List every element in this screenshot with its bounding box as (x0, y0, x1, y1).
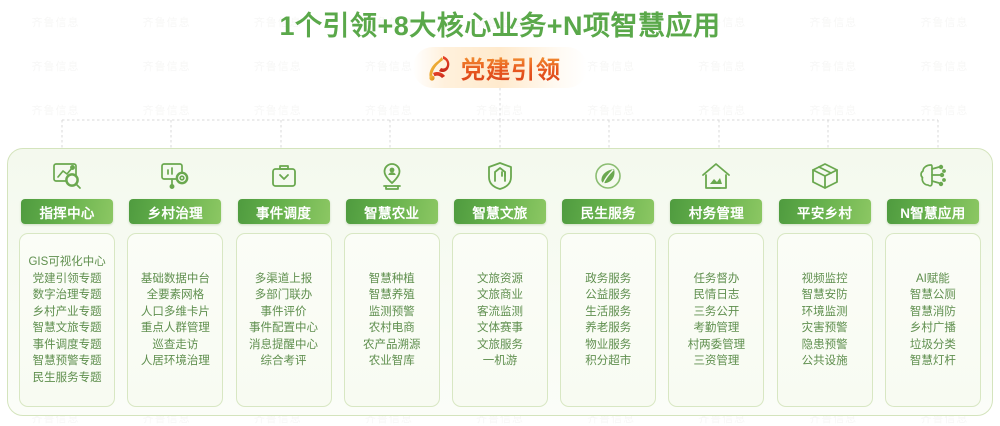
watermark-text: 齐鲁信息 (143, 102, 191, 118)
feature-list: AI赋能智慧公厕智慧消防乡村广播垃圾分类智慧灯杆 (910, 271, 956, 370)
category-column: 村务管理任务督办民情日志三务公开考勤管理村两委管理三资管理 (662, 155, 770, 407)
location-person-icon (376, 157, 408, 195)
category-column: 智慧农业智慧种植智慧养殖监测预警农村电商农产品溯源农业智库 (338, 155, 446, 407)
category-header-2[interactable]: 乡村治理 (129, 199, 221, 224)
feature-item[interactable]: 巡查走访 (141, 337, 210, 354)
ai-brain-icon (917, 157, 949, 195)
feature-item[interactable]: 任务督办 (688, 271, 746, 288)
briefcase-dispatch-icon (269, 157, 299, 195)
party-leadership-badge: 党建引领 (413, 47, 587, 88)
feature-item[interactable]: AI赋能 (910, 271, 956, 288)
feature-item[interactable]: 事件调度专题 (28, 337, 105, 354)
feature-item[interactable]: 智慧预警专题 (28, 353, 105, 370)
feature-item[interactable]: 三务公开 (688, 304, 746, 321)
feature-item[interactable]: 村两委管理 (688, 337, 746, 354)
category-header-5[interactable]: 智慧文旅 (454, 199, 546, 224)
feature-list: 政务服务公益服务生活服务养老服务物业服务积分超市 (585, 271, 631, 370)
category-title: 事件调度 (256, 202, 311, 222)
watermark-text: 齐鲁信息 (698, 58, 746, 74)
category-header-9[interactable]: N智慧应用 (887, 199, 979, 224)
feature-item[interactable]: 环境监测 (802, 304, 848, 321)
category-column: 乡村治理基础数据中台全要素网格人口多维卡片重点人群管理巡查走访人居环境治理 (121, 155, 229, 407)
category-column: 民生服务政务服务公益服务生活服务养老服务物业服务积分超市 (554, 155, 662, 407)
shield-building-icon (485, 157, 515, 195)
watermark-text: 齐鲁信息 (587, 102, 635, 118)
watermark-text: 齐鲁信息 (254, 58, 302, 74)
watermark-text: 齐鲁信息 (920, 58, 968, 74)
feature-list: 智慧种植智慧养殖监测预警农村电商农产品溯源农业智库 (363, 271, 421, 370)
category-column: 事件调度多渠道上报多部门联办事件评价事件配置中心消息提醒中心综合考评 (229, 155, 337, 407)
watermark-text: 齐鲁信息 (587, 58, 635, 74)
watermark-text: 齐鲁信息 (920, 102, 968, 118)
watermark-text: 齐鲁信息 (698, 102, 746, 118)
feature-item[interactable]: 养老服务 (585, 320, 631, 337)
category-title: 民生服务 (581, 202, 636, 222)
chart-analytics-icon (51, 157, 83, 195)
feature-item[interactable]: 事件配置中心 (249, 320, 318, 337)
category-card: GIS可视化中心党建引领专题数字治理专题乡村产业专题智慧文旅专题事件调度专题智慧… (19, 233, 115, 407)
party-emblem-icon (423, 51, 457, 85)
category-title: 指挥中心 (40, 202, 95, 222)
feature-item[interactable]: 生活服务 (585, 304, 631, 321)
feature-item[interactable]: 垃圾分类 (910, 337, 956, 354)
feature-item[interactable]: 农业智库 (363, 353, 421, 370)
leaf-circle-icon (593, 157, 623, 195)
feature-item[interactable]: 一机游 (477, 353, 523, 370)
feature-item[interactable]: 物业服务 (585, 337, 631, 354)
feature-item[interactable]: 人口多维卡片 (141, 304, 210, 321)
category-title: 智慧文旅 (472, 202, 527, 222)
category-card: AI赋能智慧公厕智慧消防乡村广播垃圾分类智慧灯杆 (885, 233, 981, 407)
feature-item[interactable]: 智慧安防 (802, 287, 848, 304)
category-header-1[interactable]: 指挥中心 (21, 199, 113, 224)
feature-item[interactable]: 综合考评 (249, 353, 318, 370)
feature-item[interactable]: 智慧文旅专题 (28, 320, 105, 337)
feature-item[interactable]: 多部门联办 (249, 287, 318, 304)
feature-item[interactable]: 智慧消防 (910, 304, 956, 321)
feature-list: 文旅资源文旅商业客流监测文体赛事文旅服务一机游 (477, 271, 523, 370)
category-card: 政务服务公益服务生活服务养老服务物业服务积分超市 (560, 233, 656, 407)
feature-item[interactable]: 灾害预警 (802, 320, 848, 337)
feature-item[interactable]: 智慧养殖 (363, 287, 421, 304)
watermark-text: 齐鲁信息 (809, 102, 857, 118)
feature-item[interactable]: 民生服务专题 (28, 370, 105, 387)
category-title: 平安乡村 (797, 202, 852, 222)
watermark-text: 齐鲁信息 (365, 58, 413, 74)
monitor-settings-icon (159, 157, 191, 195)
category-header-7[interactable]: 村务管理 (670, 199, 762, 224)
category-column: 平安乡村视频监控智慧安防环境监测灾害预警隐患预警公共设施 (771, 155, 879, 407)
feature-list: GIS可视化中心党建引领专题数字治理专题乡村产业专题智慧文旅专题事件调度专题智慧… (28, 254, 105, 386)
feature-item[interactable]: 事件评价 (249, 304, 318, 321)
feature-list: 基础数据中台全要素网格人口多维卡片重点人群管理巡查走访人居环境治理 (141, 271, 210, 370)
category-title: 智慧农业 (364, 202, 419, 222)
feature-item[interactable]: 客流监测 (477, 304, 523, 321)
watermark-text: 齐鲁信息 (143, 58, 191, 74)
feature-item[interactable]: 基础数据中台 (141, 271, 210, 288)
feature-list: 视频监控智慧安防环境监测灾害预警隐患预警公共设施 (802, 271, 848, 370)
feature-item[interactable]: 消息提醒中心 (249, 337, 318, 354)
feature-item[interactable]: 三资管理 (688, 353, 746, 370)
cube-box-icon (810, 157, 840, 195)
feature-item[interactable]: 智慧公厕 (910, 287, 956, 304)
feature-item[interactable]: 视频监控 (802, 271, 848, 288)
feature-item[interactable]: 乡村广播 (910, 320, 956, 337)
watermark-text: 齐鲁信息 (476, 102, 524, 118)
category-card: 多渠道上报多部门联办事件评价事件配置中心消息提醒中心综合考评 (236, 233, 332, 407)
feature-item[interactable]: 文旅商业 (477, 287, 523, 304)
feature-item[interactable]: 智慧种植 (363, 271, 421, 288)
feature-list: 任务督办民情日志三务公开考勤管理村两委管理三资管理 (688, 271, 746, 370)
category-column: N智慧应用AI赋能智慧公厕智慧消防乡村广播垃圾分类智慧灯杆 (879, 155, 987, 407)
badge-label: 党建引领 (461, 50, 561, 85)
category-card: 文旅资源文旅商业客流监测文体赛事文旅服务一机游 (452, 233, 548, 407)
page-title: 1个引领+8大核心业务+N项智慧应用 (0, 4, 1000, 43)
category-header-8[interactable]: 平安乡村 (779, 199, 871, 224)
feature-item[interactable]: 监测预警 (363, 304, 421, 321)
feature-item[interactable]: 农村电商 (363, 320, 421, 337)
feature-item[interactable]: 人居环境治理 (141, 353, 210, 370)
watermark-text: 齐鲁信息 (365, 102, 413, 118)
feature-item[interactable]: 全要素网格 (141, 287, 210, 304)
feature-item[interactable]: 考勤管理 (688, 320, 746, 337)
category-title: 乡村治理 (148, 202, 203, 222)
category-header-4[interactable]: 智慧农业 (346, 199, 438, 224)
feature-item[interactable]: 公益服务 (585, 287, 631, 304)
category-title: N智慧应用 (900, 202, 965, 222)
category-card: 视频监控智慧安防环境监测灾害预警隐患预警公共设施 (777, 233, 873, 407)
category-header-3[interactable]: 事件调度 (238, 199, 330, 224)
category-column: 智慧文旅文旅资源文旅商业客流监测文体赛事文旅服务一机游 (446, 155, 554, 407)
watermark-text: 齐鲁信息 (32, 102, 80, 118)
category-card: 基础数据中台全要素网格人口多维卡片重点人群管理巡查走访人居环境治理 (127, 233, 223, 407)
category-header-6[interactable]: 民生服务 (562, 199, 654, 224)
feature-item[interactable]: 政务服务 (585, 271, 631, 288)
feature-item[interactable]: 公共设施 (802, 353, 848, 370)
watermark-text: 齐鲁信息 (32, 58, 80, 74)
feature-item[interactable]: GIS可视化中心 (28, 254, 105, 271)
feature-item[interactable]: 文旅服务 (477, 337, 523, 354)
feature-item[interactable]: 文旅资源 (477, 271, 523, 288)
architecture-board: 指挥中心GIS可视化中心党建引领专题数字治理专题乡村产业专题智慧文旅专题事件调度… (7, 148, 993, 416)
feature-list: 多渠道上报多部门联办事件评价事件配置中心消息提醒中心综合考评 (249, 271, 318, 370)
category-card: 任务督办民情日志三务公开考勤管理村两委管理三资管理 (668, 233, 764, 407)
feature-item[interactable]: 民情日志 (688, 287, 746, 304)
feature-item[interactable]: 党建引领专题 (28, 271, 105, 288)
house-village-icon (700, 157, 732, 195)
feature-item[interactable]: 文体赛事 (477, 320, 523, 337)
watermark-text: 齐鲁信息 (809, 58, 857, 74)
feature-item[interactable]: 重点人群管理 (141, 320, 210, 337)
category-title: 村务管理 (689, 202, 744, 222)
feature-item[interactable]: 智慧灯杆 (910, 353, 956, 370)
category-column: 指挥中心GIS可视化中心党建引领专题数字治理专题乡村产业专题智慧文旅专题事件调度… (13, 155, 121, 407)
feature-item[interactable]: 乡村产业专题 (28, 304, 105, 321)
feature-item[interactable]: 数字治理专题 (28, 287, 105, 304)
feature-item[interactable]: 隐患预警 (802, 337, 848, 354)
feature-item[interactable]: 农产品溯源 (363, 337, 421, 354)
watermark-text: 齐鲁信息 (254, 102, 302, 118)
category-card: 智慧种植智慧养殖监测预警农村电商农产品溯源农业智库 (344, 233, 440, 407)
feature-item[interactable]: 积分超市 (585, 353, 631, 370)
feature-item[interactable]: 多渠道上报 (249, 271, 318, 288)
